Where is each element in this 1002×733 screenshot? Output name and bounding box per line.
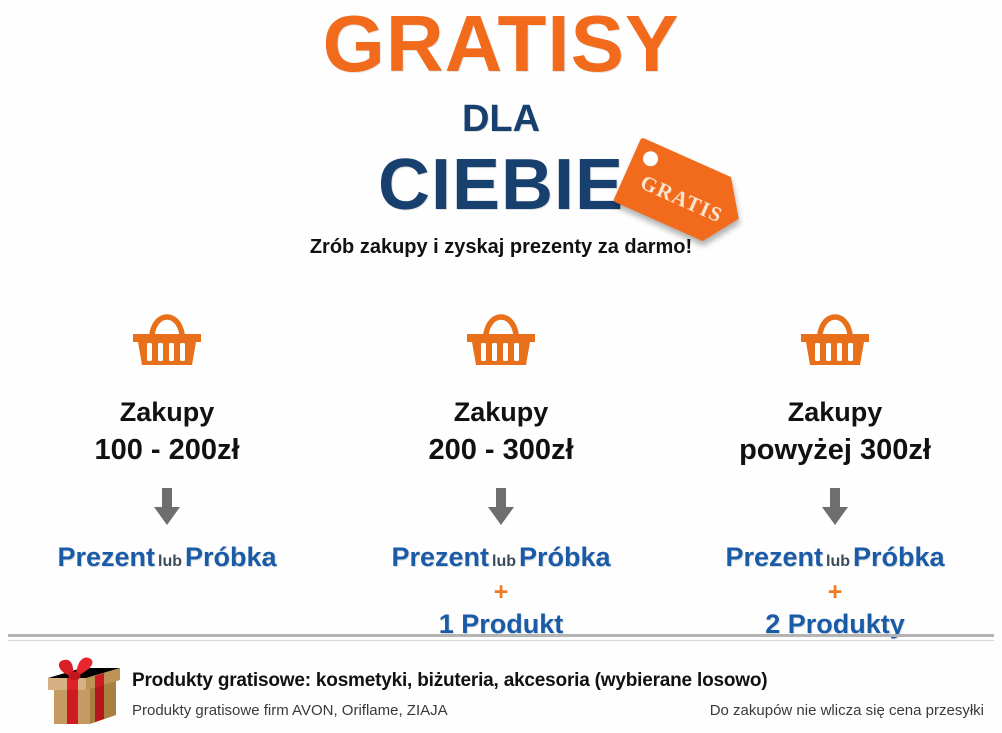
tagline: Zrób zakupy i zyskaj prezenty za darmo! xyxy=(0,236,1002,259)
footer-note-shipping: Do zakupów nie wlicza się cena przesyłki xyxy=(710,702,984,719)
page-title: GRATISY xyxy=(0,2,1002,86)
reward-conjunction: lub xyxy=(823,553,853,570)
footer-main-text: Produkty gratisowe: kosmetyki, biżuteria… xyxy=(132,670,767,692)
shopping-basket-icon xyxy=(668,312,1002,375)
tier-label: Zakupy xyxy=(668,395,1002,431)
tier-label: Zakupy xyxy=(0,395,334,431)
reward-option-secondary: Próbka xyxy=(185,542,277,572)
tier-column: Zakupy 200 - 300zł PrezentlubPróbka + 1 … xyxy=(334,300,668,642)
footer-note-brands: Produkty gratisowe firm AVON, Oriflame, … xyxy=(132,702,448,719)
promo-banner: GRATISY DLA CIEBIE Zrób zakupy i zyskaj … xyxy=(0,0,1002,733)
arrow-down-icon xyxy=(0,487,334,529)
tier-reward: PrezentlubPróbka xyxy=(668,541,1002,575)
footer: Produkty gratisowe: kosmetyki, biżuteria… xyxy=(0,648,1002,733)
reward-conjunction: lub xyxy=(489,553,519,570)
title-bigline: CIEBIE xyxy=(0,148,1002,224)
tier-reward: PrezentlubPróbka xyxy=(334,541,668,575)
reward-option-primary: Prezent xyxy=(725,542,823,572)
tier-label: Zakupy xyxy=(334,395,668,431)
gift-box-icon xyxy=(42,656,124,733)
reward-option-primary: Prezent xyxy=(57,542,155,572)
shopping-basket-icon xyxy=(334,312,668,375)
title-subline: DLA xyxy=(0,98,1002,141)
tier-column: Zakupy 100 - 200zł PrezentlubPróbka xyxy=(0,300,334,642)
divider-secondary xyxy=(8,640,994,641)
tier-amount: 200 - 300zł xyxy=(334,431,668,469)
arrow-down-icon xyxy=(334,487,668,529)
tier-reward: PrezentlubPróbka xyxy=(0,541,334,575)
tier-amount: powyżej 300zł xyxy=(668,431,1002,469)
reward-option-secondary: Próbka xyxy=(853,542,945,572)
tier-list: Zakupy 100 - 200zł PrezentlubPróbka xyxy=(0,300,1002,642)
reward-option-secondary: Próbka xyxy=(519,542,611,572)
plus-separator: + xyxy=(668,579,1002,607)
reward-conjunction: lub xyxy=(155,553,185,570)
arrow-down-icon xyxy=(668,487,1002,529)
divider-primary xyxy=(8,634,994,637)
plus-separator: + xyxy=(334,579,668,607)
reward-option-primary: Prezent xyxy=(391,542,489,572)
tier-column: Zakupy powyżej 300zł PrezentlubPróbka + … xyxy=(668,300,1002,642)
tier-amount: 100 - 200zł xyxy=(0,431,334,469)
shopping-basket-icon xyxy=(0,312,334,375)
